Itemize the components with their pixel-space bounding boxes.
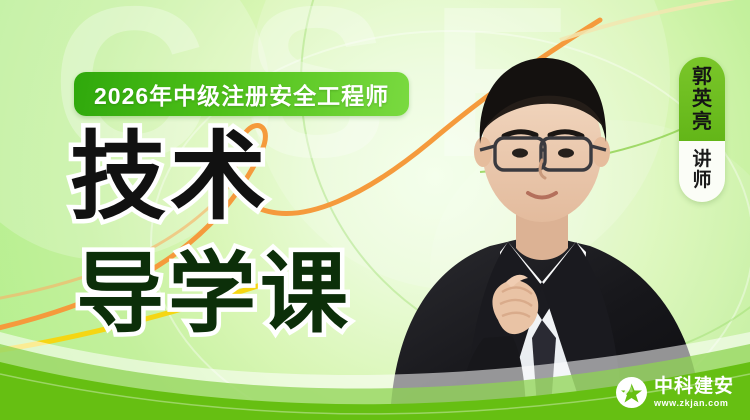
instructor-role: 讲 师 (679, 141, 725, 202)
course-subtitle-text: 2026年中级注册安全工程师 (94, 77, 389, 111)
headline-line-1: 技术 (70, 130, 352, 226)
brand-text: 中科建安 www.zkjan.com (654, 377, 734, 408)
brand-name: 中科建安 (654, 377, 734, 396)
course-subtitle-badge: 2026年中级注册安全工程师 (74, 72, 409, 116)
instructor-role-char-1: 讲 (692, 149, 711, 170)
instructor-name-char-2: 英 (692, 88, 712, 110)
instructor-name-char-1: 郭 (692, 66, 712, 88)
star-mountain-logo-icon (616, 377, 647, 408)
course-poster: C S E (0, 0, 750, 420)
headline-line-2: 导学课 (76, 250, 352, 338)
instructor-name: 郭 英 亮 (679, 57, 725, 141)
instructor-role-char-2: 师 (692, 170, 711, 191)
instructor-badge: 郭 英 亮 讲 师 (679, 57, 725, 202)
instructor-name-char-3: 亮 (692, 111, 712, 133)
brand-url: www.zkjan.com (654, 399, 734, 408)
page-title: 技术 导学课 (70, 130, 352, 338)
brand-logo[interactable]: 中科建安 www.zkjan.com (616, 377, 734, 408)
